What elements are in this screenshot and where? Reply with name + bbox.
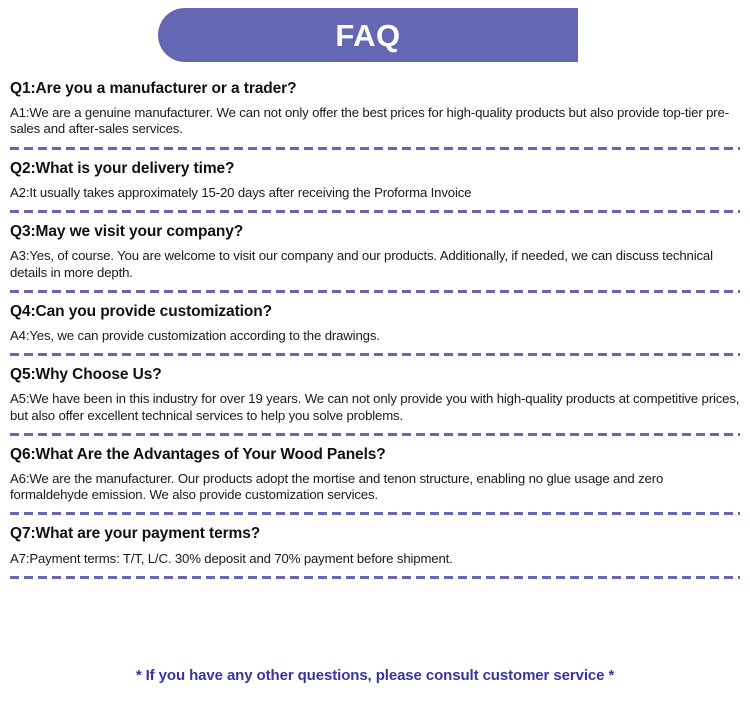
faq-answer: A4:Yes, we can provide customization acc… bbox=[10, 321, 740, 350]
faq-answer: A7:Payment terms: T/T, L/C. 30% deposit … bbox=[10, 544, 740, 573]
faq-answer: A6:We are the manufacturer. Our products… bbox=[10, 464, 740, 509]
faq-question: Q3:May we visit your company? bbox=[10, 213, 740, 241]
faq-question: Q1:Are you a manufacturer or a trader? bbox=[10, 70, 740, 98]
page-title: FAQ bbox=[335, 20, 400, 51]
faq-question: Q2:What is your delivery time? bbox=[10, 150, 740, 178]
faq-item: Q3:May we visit your company? A3:Yes, of… bbox=[0, 213, 750, 293]
faq-answer: A3:Yes, of course. You are welcome to vi… bbox=[10, 241, 740, 286]
faq-answer: A1:We are a genuine manufacturer. We can… bbox=[10, 98, 740, 143]
faq-item: Q1:Are you a manufacturer or a trader? A… bbox=[0, 70, 750, 150]
faq-item: Q7:What are your payment terms? A7:Payme… bbox=[0, 515, 750, 578]
faq-question: Q4:Can you provide customization? bbox=[10, 293, 740, 321]
faq-answer: A5:We have been in this industry for ove… bbox=[10, 384, 740, 429]
faq-list: Q1:Are you a manufacturer or a trader? A… bbox=[0, 70, 750, 579]
footer-note: * If you have any other questions, pleas… bbox=[0, 666, 750, 686]
faq-question: Q6:What Are the Advantages of Your Wood … bbox=[10, 436, 740, 464]
faq-page: FAQ Q1:Are you a manufacturer or a trade… bbox=[0, 0, 750, 721]
faq-item: Q6:What Are the Advantages of Your Wood … bbox=[0, 436, 750, 516]
faq-question: Q5:Why Choose Us? bbox=[10, 356, 740, 384]
faq-item: Q5:Why Choose Us? A5:We have been in thi… bbox=[0, 356, 750, 436]
faq-banner: FAQ bbox=[158, 8, 578, 62]
faq-answer: A2:It usually takes approximately 15-20 … bbox=[10, 178, 740, 207]
faq-item: Q4:Can you provide customization? A4:Yes… bbox=[0, 293, 750, 356]
faq-divider bbox=[10, 576, 740, 579]
faq-header: FAQ bbox=[0, 8, 750, 62]
faq-item: Q2:What is your delivery time? A2:It usu… bbox=[0, 150, 750, 213]
faq-question: Q7:What are your payment terms? bbox=[10, 515, 740, 543]
